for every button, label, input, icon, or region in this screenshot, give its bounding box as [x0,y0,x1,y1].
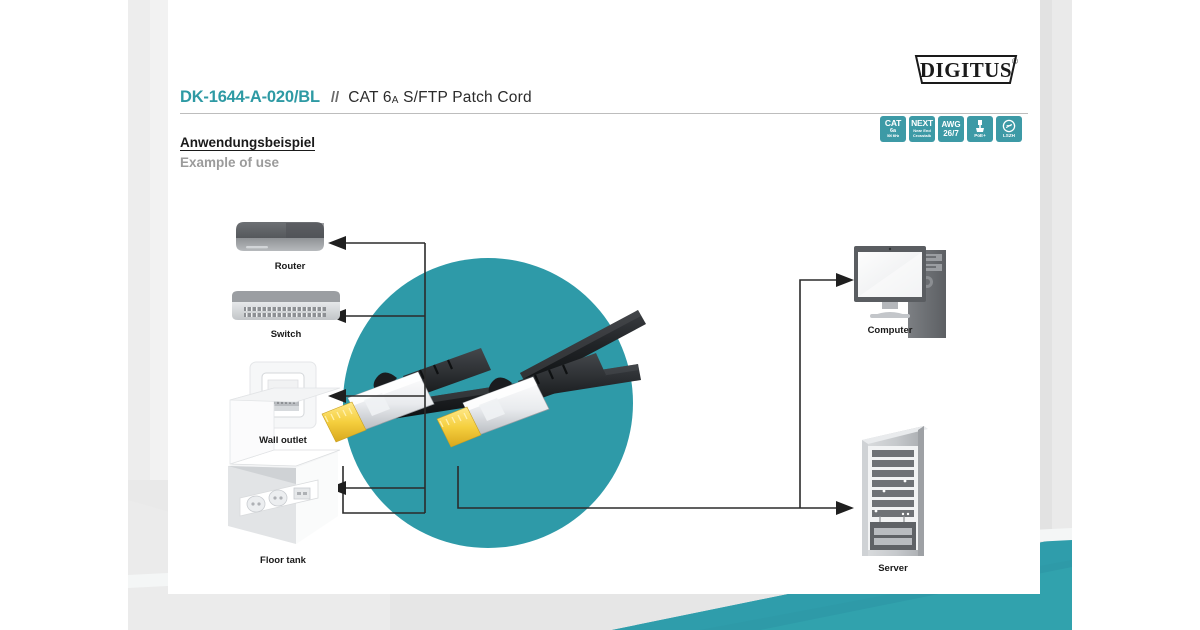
poe-badge: PoE+ [967,116,993,142]
poe-badge-label: PoE+ [974,134,986,139]
header-rule [180,113,1028,114]
server-device [862,426,928,556]
digitus-logo: DIGITUS ® [912,50,1020,86]
logo-wordmark: DIGITUS [920,58,1012,82]
cat6a-badge: CAT 6a 500 MHz [880,116,906,142]
product-name-subscript: A [392,95,399,106]
router-device [236,222,324,251]
floor-tank-label-wrap: Floor tank [233,550,333,566]
next-badge-line1: NEXT [911,119,933,128]
feature-badge-row: CAT 6a 500 MHz NEXT Near End Crosstalk A… [880,116,1022,142]
server-label-wrap: Server [843,558,943,574]
section-title-de: Anwendungsbeispiel [180,135,315,151]
next-badge-line3: Crosstalk [913,134,931,139]
floor-tank-label: Floor tank [233,555,333,566]
poe-connector-icon [973,119,987,133]
awg-badge-line1: AWG [941,121,960,129]
product-name-pre: CAT 6 [348,89,392,106]
datasheet-card: DIGITUS ® DK-1644-A-020/BL // CAT 6A S/F… [168,38,1040,594]
section-heading: Anwendungsbeispiel Example of use [180,134,315,170]
lszh-no-halogen-icon [1002,119,1016,133]
product-name: CAT 6A S/FTP Patch Cord [348,89,532,107]
server-label: Server [843,563,943,574]
next-badge: NEXT Near End Crosstalk [909,116,935,142]
computer-label: Computer [840,325,940,336]
router-label: Router [240,261,340,272]
registered-mark: ® [1012,57,1018,66]
switch-label-wrap: Switch [236,324,336,340]
product-sku: DK-1644-A-020/BL [180,88,320,107]
awg-badge: AWG 26/7 [938,116,964,142]
product-header: DK-1644-A-020/BL // CAT 6A S/FTP Patch C… [180,88,1028,114]
lszh-badge: LSZH [996,116,1022,142]
cat6a-badge-line1: CAT [885,119,901,128]
wall-outlet-label: Wall outlet [233,435,333,446]
awg-badge-line2: 26/7 [943,130,959,138]
switch-label: Switch [236,329,336,340]
page-canvas: DIGITUS ® DK-1644-A-020/BL // CAT 6A S/F… [0,0,1200,630]
application-diagram: Router Switch Wall outlet Floor tank Com… [168,168,1040,588]
cat6a-badge-line3: 500 MHz [887,135,899,138]
router-label-wrap: Router [240,256,340,272]
product-name-post: S/FTP Patch Cord [399,89,532,106]
lszh-badge-label: LSZH [1003,134,1015,139]
wall-outlet-label-wrap: Wall outlet [233,430,333,446]
switch-device [232,291,340,320]
right-arrowheads [836,273,854,515]
computer-label-wrap: Computer [840,320,940,336]
header-separator: // [331,89,339,106]
